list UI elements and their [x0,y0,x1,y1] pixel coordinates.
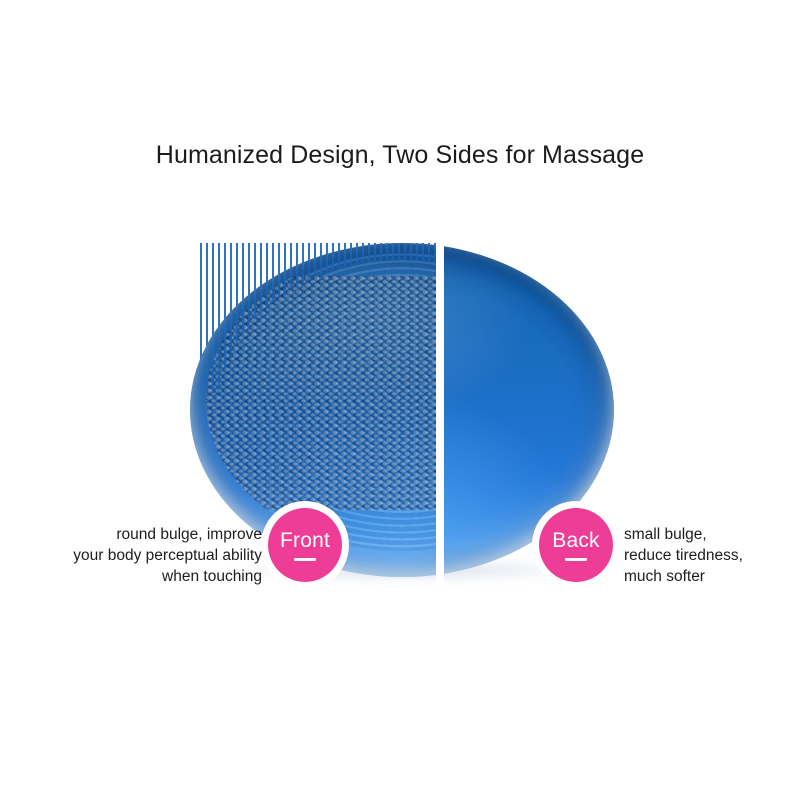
page-title: Humanized Design, Two Sides for Massage [0,139,800,171]
back-badge-underline-dash [565,558,587,561]
back-badge: Back [539,508,613,582]
back-badge-label: Back [552,530,600,552]
front-badge-underline-dash [294,558,316,561]
product-feature-image: Humanized Design, Two Sides for Massage [0,0,800,800]
front-badge: Front [268,508,342,582]
front-caption: round bulge, improve your body perceptua… [0,524,262,587]
back-caption: small bulge, reduce tiredness, much soft… [624,524,800,587]
front-badge-label: Front [280,530,330,552]
disc-split-divider [436,235,444,585]
